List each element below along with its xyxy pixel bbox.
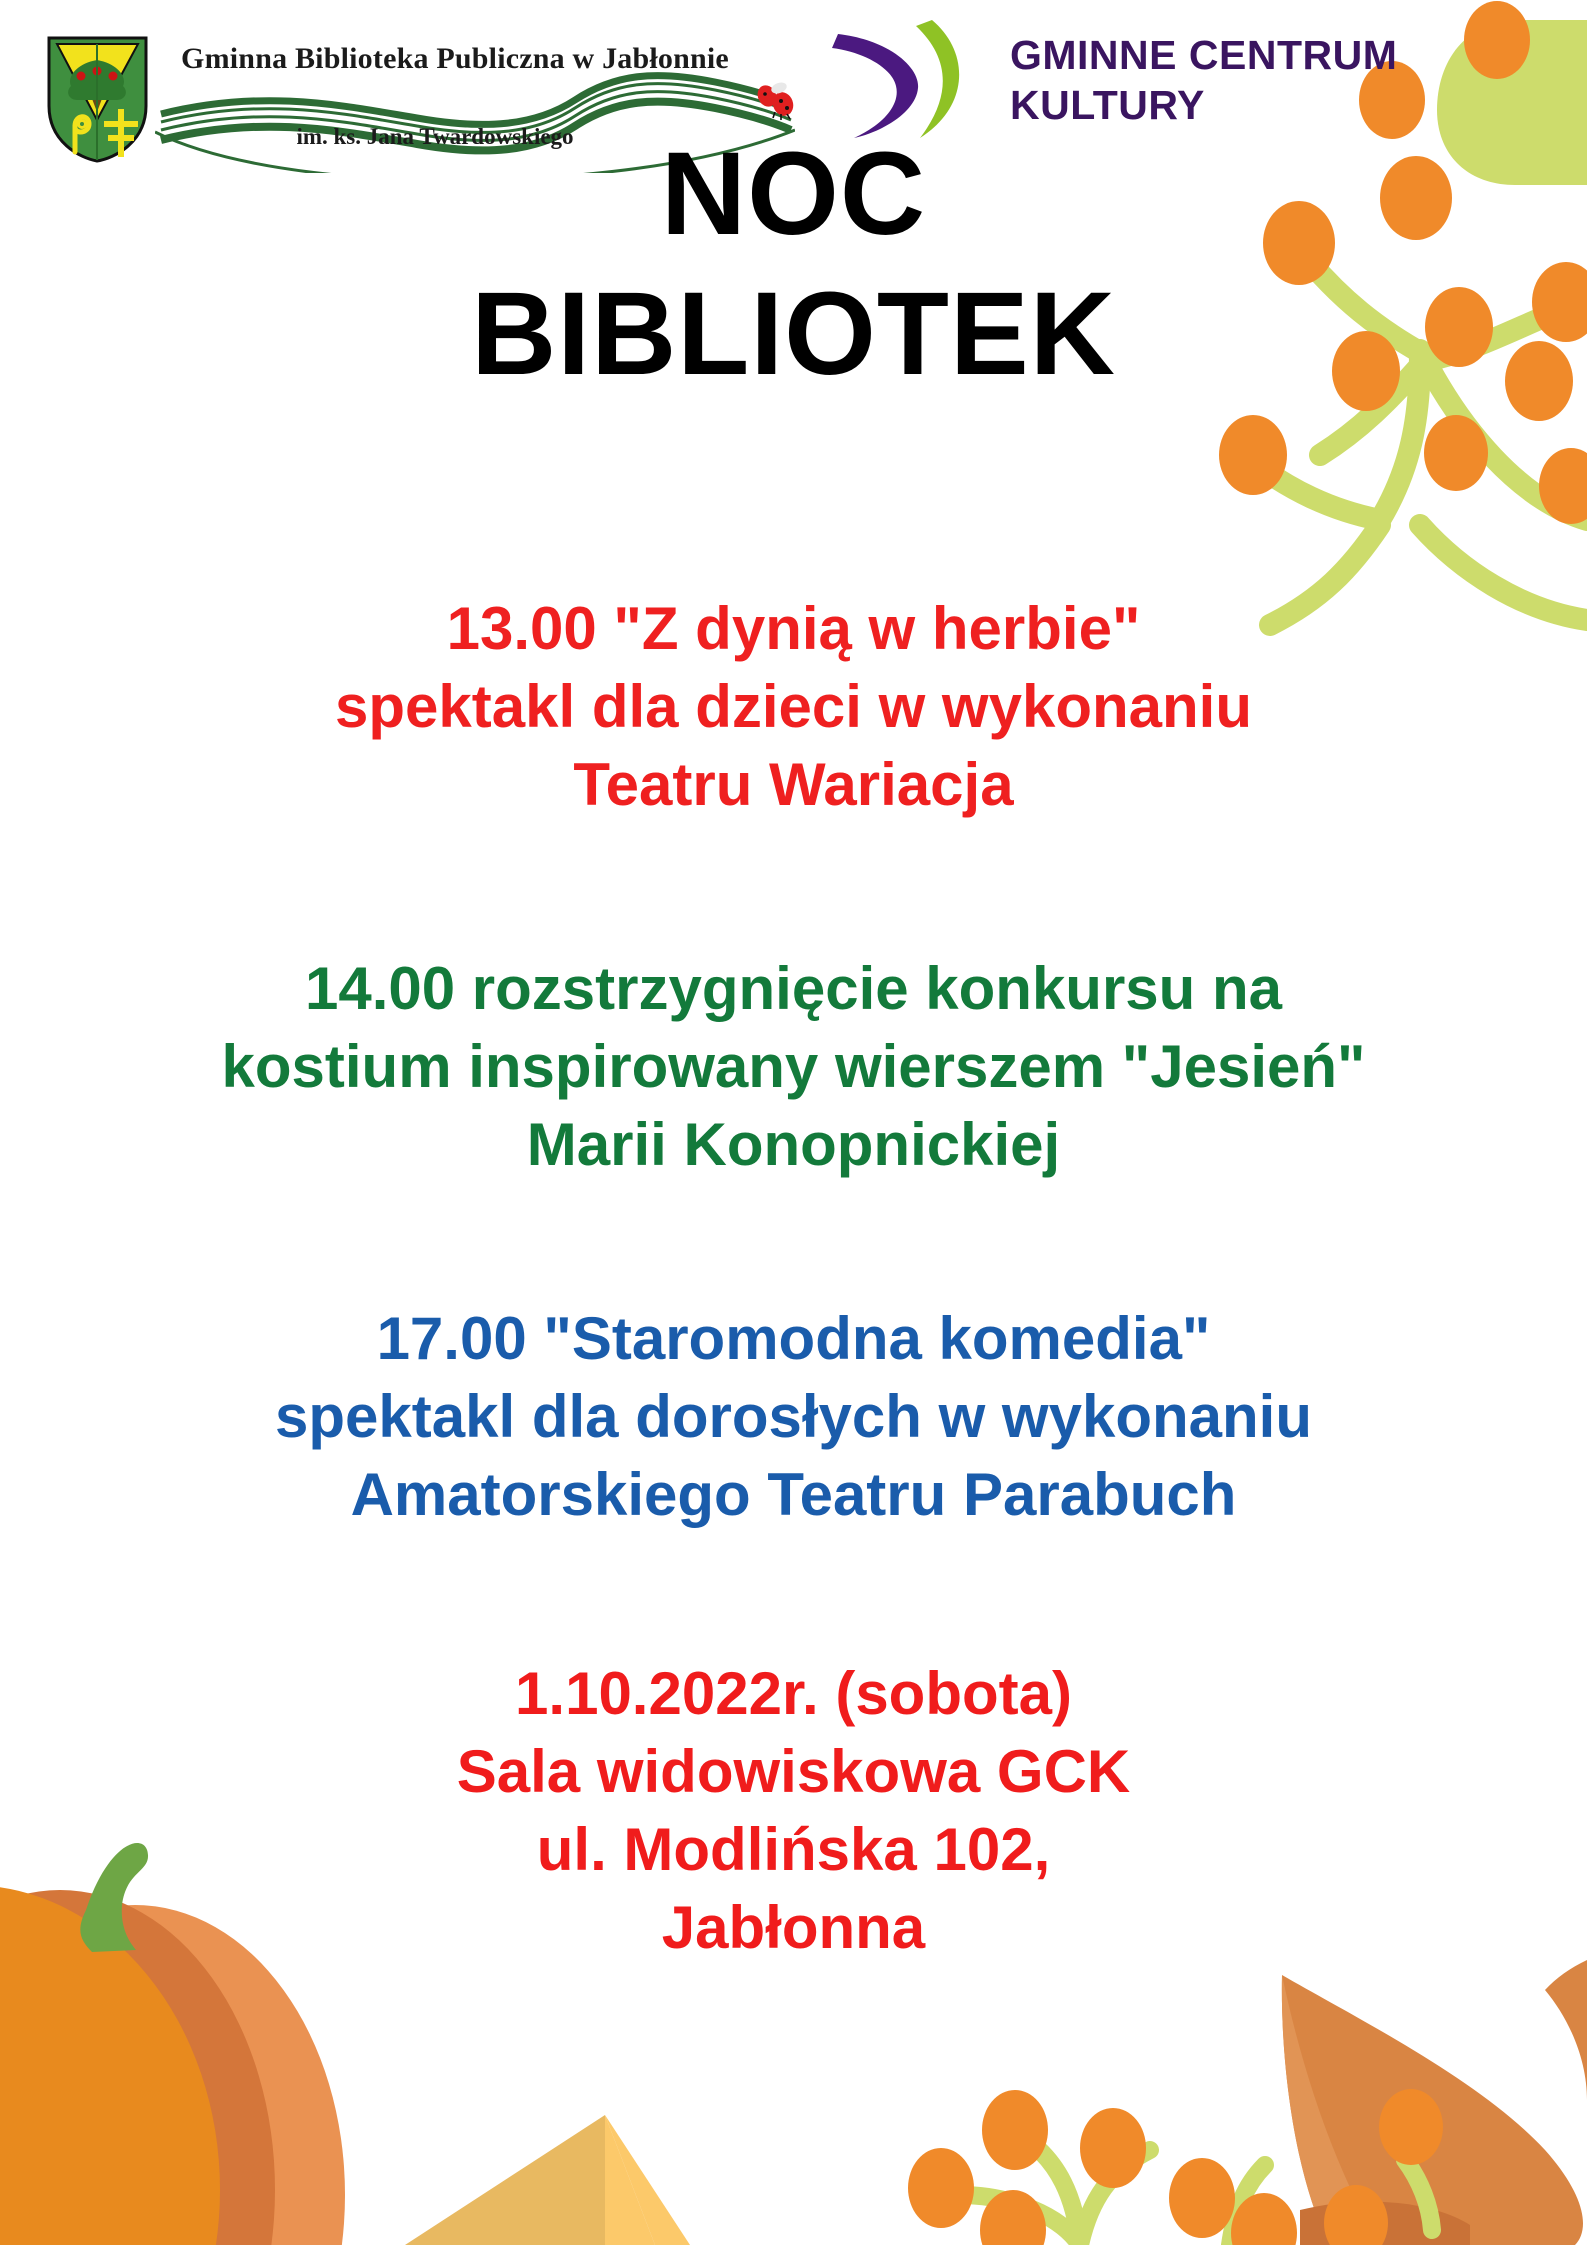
event-1400-line-2: kostium inspirowany wierszem "Jesień" [0,1028,1587,1106]
corn-cone-icon [405,2115,690,2245]
event-1300-line-1: 13.00 "Z dynią w herbie" [0,590,1587,668]
title-line-2: BIBLIOTEK [0,264,1587,404]
event-1700: 17.00 "Staromodna komedia" spektakl dla … [0,1300,1587,1534]
event-1300-line-3: Teatru Wariacja [0,746,1587,824]
event-1700-line-3: Amatorskiego Teatru Parabuch [0,1456,1587,1534]
event-1700-line-1: 17.00 "Staromodna komedia" [0,1300,1587,1378]
autumn-leaf-icon [1282,1960,1587,2245]
venue-date: 1.10.2022r. (sobota) [0,1655,1587,1733]
venue-city: Jabłonna [0,1889,1587,1967]
ladybug-icon [754,81,795,120]
gck-line-2: KULTURY [1010,80,1397,130]
venue-place: Sala widowiskowa GCK [0,1733,1587,1811]
event-1400-line-3: Marii Konopnickiej [0,1106,1587,1184]
title-line-1: NOC [0,124,1587,264]
event-1300-line-2: spektakl dla dzieci w wykonaniu [0,668,1587,746]
page-title: NOC BIBLIOTEK [0,124,1587,404]
poster-canvas: Gminna Biblioteka Publiczna w Jabłonnie [0,0,1587,2245]
event-1700-line-2: spektakl dla dorosłych w wykonaniu [0,1378,1587,1456]
venue-details: 1.10.2022r. (sobota) Sala widowiskowa GC… [0,1655,1587,1967]
event-1400-line-1: 14.00 rozstrzygnięcie konkursu na [0,950,1587,1028]
venue-street: ul. Modlińska 102, [0,1811,1587,1889]
culture-centre-name: GMINNE CENTRUM KULTURY [1010,30,1397,130]
berry-cluster-icon [908,2089,1443,2245]
gck-line-1: GMINNE CENTRUM [1010,30,1397,80]
event-1400: 14.00 rozstrzygnięcie konkursu na kostiu… [0,950,1587,1184]
gck-swoosh-icon [820,16,1000,141]
event-1300: 13.00 "Z dynią w herbie" spektakl dla dz… [0,590,1587,824]
